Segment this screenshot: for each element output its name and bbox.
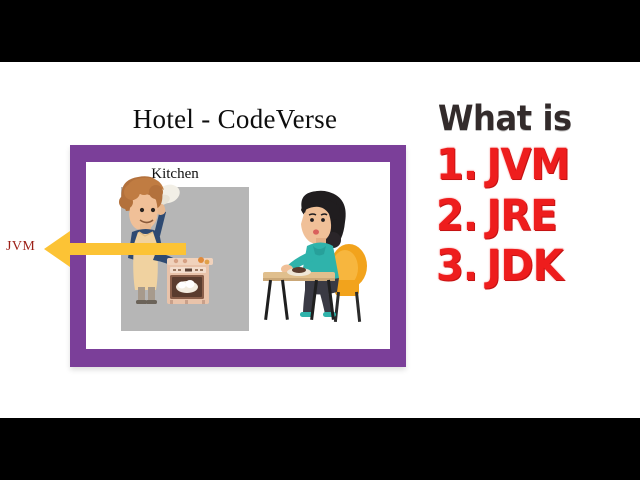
question-item-1-number: 1.: [436, 140, 477, 190]
question-item-1: 1.JVM: [436, 143, 626, 188]
question-item-2-number: 2.: [436, 191, 477, 241]
jvm-arrow-label: JVM: [6, 239, 35, 255]
question-item-3-label: JDK: [486, 241, 562, 291]
page-title: Hotel - CodeVerse: [70, 104, 400, 135]
question-item-2: 2.JRE: [436, 194, 626, 239]
customer-illustration: [261, 180, 381, 330]
letterbox-bottom: [0, 418, 640, 480]
slide-canvas: Hotel - CodeVerse Kitchen: [0, 62, 640, 418]
question-item-3-number: 3.: [436, 241, 477, 291]
question-block: What is 1.JVM 2.JRE 3.JDK: [436, 102, 640, 392]
letterbox-top: [0, 0, 640, 62]
question-item-1-label: JVM: [486, 140, 569, 190]
question-heading: What is: [438, 102, 624, 137]
video-stage: Hotel - CodeVerse Kitchen: [0, 0, 640, 480]
jvm-arrow-group: JVM: [0, 227, 190, 271]
question-item-3: 3.JDK: [436, 244, 626, 289]
question-item-2-label: JRE: [486, 191, 556, 241]
